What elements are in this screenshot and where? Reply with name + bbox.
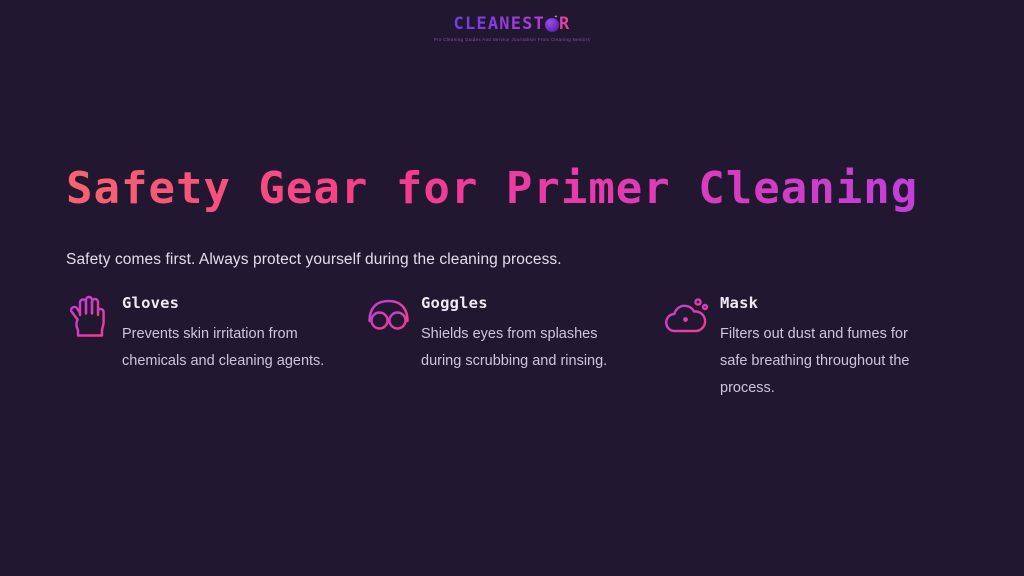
slide-root: CLEANEST ✦ R Pro Cleaning Guides And Ser… xyxy=(0,0,1024,576)
brand-wordmark: CLEANEST ✦ R xyxy=(454,14,571,34)
card-body: Mask Filters out dust and fumes for safe… xyxy=(720,292,963,402)
card-body: Goggles Shields eyes from splashes durin… xyxy=(421,292,664,375)
brand-orb-icon: ✦ xyxy=(545,16,559,32)
card-description: Prevents skin irritation from chemicals … xyxy=(122,321,337,375)
brand-name-part-1: CLEANEST xyxy=(454,14,545,34)
card-body: Gloves Prevents skin irritation from che… xyxy=(122,292,365,375)
card-title: Goggles xyxy=(421,294,664,312)
card-description: Shields eyes from splashes during scrubb… xyxy=(421,321,636,375)
sparkle-icon: ✦ xyxy=(554,14,559,19)
card-description: Filters out dust and fumes for safe brea… xyxy=(720,321,935,402)
brand-logo: CLEANEST ✦ R Pro Cleaning Guides And Ser… xyxy=(0,14,1024,42)
brand-tagline: Pro Cleaning Guides And Service Journali… xyxy=(434,37,590,42)
page-title: Safety Gear for Primer Cleaning xyxy=(66,164,918,215)
safety-gear-card-gloves: Gloves Prevents skin irritation from che… xyxy=(66,292,365,402)
orb-ball-icon xyxy=(545,18,559,32)
safety-gear-card-mask: Mask Filters out dust and fumes for safe… xyxy=(664,292,963,402)
glove-icon xyxy=(66,292,122,340)
card-title: Mask xyxy=(720,294,963,312)
brand-name-part-2: R xyxy=(559,14,570,34)
mask-icon xyxy=(664,292,720,340)
goggles-icon xyxy=(365,292,421,336)
safety-gear-card-goggles: Goggles Shields eyes from splashes durin… xyxy=(365,292,664,402)
safety-gear-card-list: Gloves Prevents skin irritation from che… xyxy=(66,292,964,402)
card-title: Gloves xyxy=(122,294,365,312)
page-subtitle: Safety comes first. Always protect yours… xyxy=(66,251,562,269)
